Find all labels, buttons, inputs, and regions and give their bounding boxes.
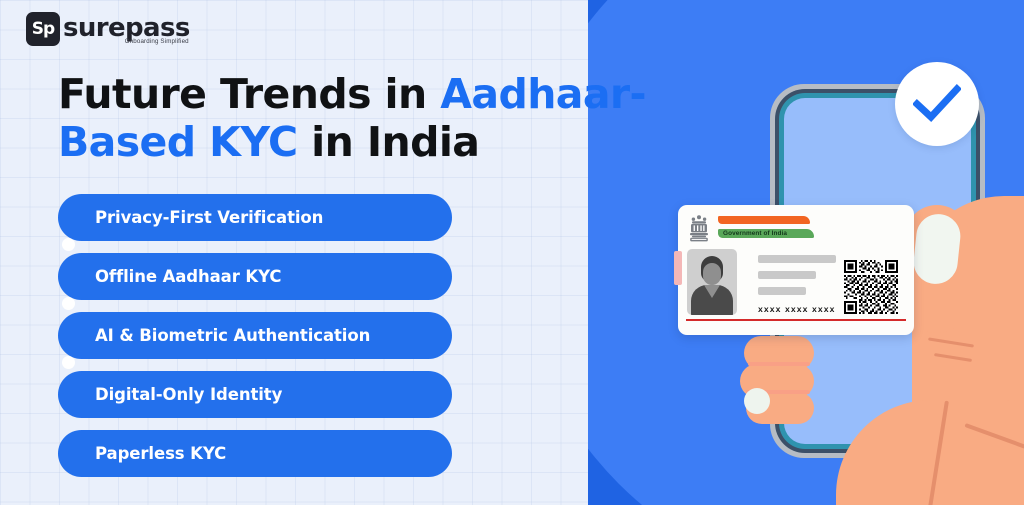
poster-canvas: Government of India xxxx xxxx xxxx: [0, 0, 1024, 505]
headline-part-3: in India: [297, 118, 479, 166]
check-icon: [913, 84, 961, 124]
card-photo: [687, 249, 737, 315]
card-text-placeholder: [758, 255, 836, 263]
headline-part-1: Future Trends in: [58, 70, 440, 118]
brand-logo[interactable]: Sp surepass Onboarding Simplified: [26, 12, 190, 46]
card-accent-line: [686, 319, 906, 321]
trend-item-5[interactable]: Paperless KYC: [58, 430, 452, 477]
trend-label: Offline Aadhaar KYC: [95, 267, 281, 286]
logo-text-group: surepass Onboarding Simplified: [63, 12, 190, 43]
trend-label: Digital-Only Identity: [95, 385, 282, 404]
trend-item-3[interactable]: AI & Biometric Authentication: [58, 312, 452, 359]
card-text-placeholder: [758, 271, 816, 279]
card-authority-label: Government of India: [723, 229, 787, 238]
finger-nail: [744, 388, 770, 414]
card-uid-number: xxxx xxxx xxxx: [758, 304, 836, 314]
logo-tagline: Onboarding Simplified: [125, 38, 189, 45]
pill-connector-dot: [62, 356, 75, 369]
verified-badge: [895, 62, 979, 146]
aadhaar-card: Government of India xxxx xxxx xxxx: [678, 205, 914, 335]
trend-item-4[interactable]: Digital-Only Identity: [58, 371, 452, 418]
pill-connector-dot: [62, 238, 75, 251]
trend-item-2[interactable]: Offline Aadhaar KYC: [58, 253, 452, 300]
trends-list: Privacy-First Verification Offline Aadha…: [58, 194, 452, 477]
trend-label: Paperless KYC: [95, 444, 226, 463]
finger-crease: [748, 362, 810, 366]
card-text-placeholder: [758, 287, 806, 295]
flag-stroke-saffron: [718, 216, 810, 224]
card-side-tab: [674, 251, 682, 285]
logo-mark: Sp: [26, 12, 60, 46]
trend-label: Privacy-First Verification: [95, 208, 323, 227]
qr-code-icon: [844, 260, 898, 314]
pill-connector-dot: [62, 297, 75, 310]
trend-item-1[interactable]: Privacy-First Verification: [58, 194, 452, 241]
photo-face: [703, 263, 721, 285]
trend-label: AI & Biometric Authentication: [95, 326, 370, 345]
ashoka-emblem-icon: [688, 214, 710, 244]
page-title: Future Trends in Aadhaar-Based KYC in In…: [58, 70, 658, 166]
